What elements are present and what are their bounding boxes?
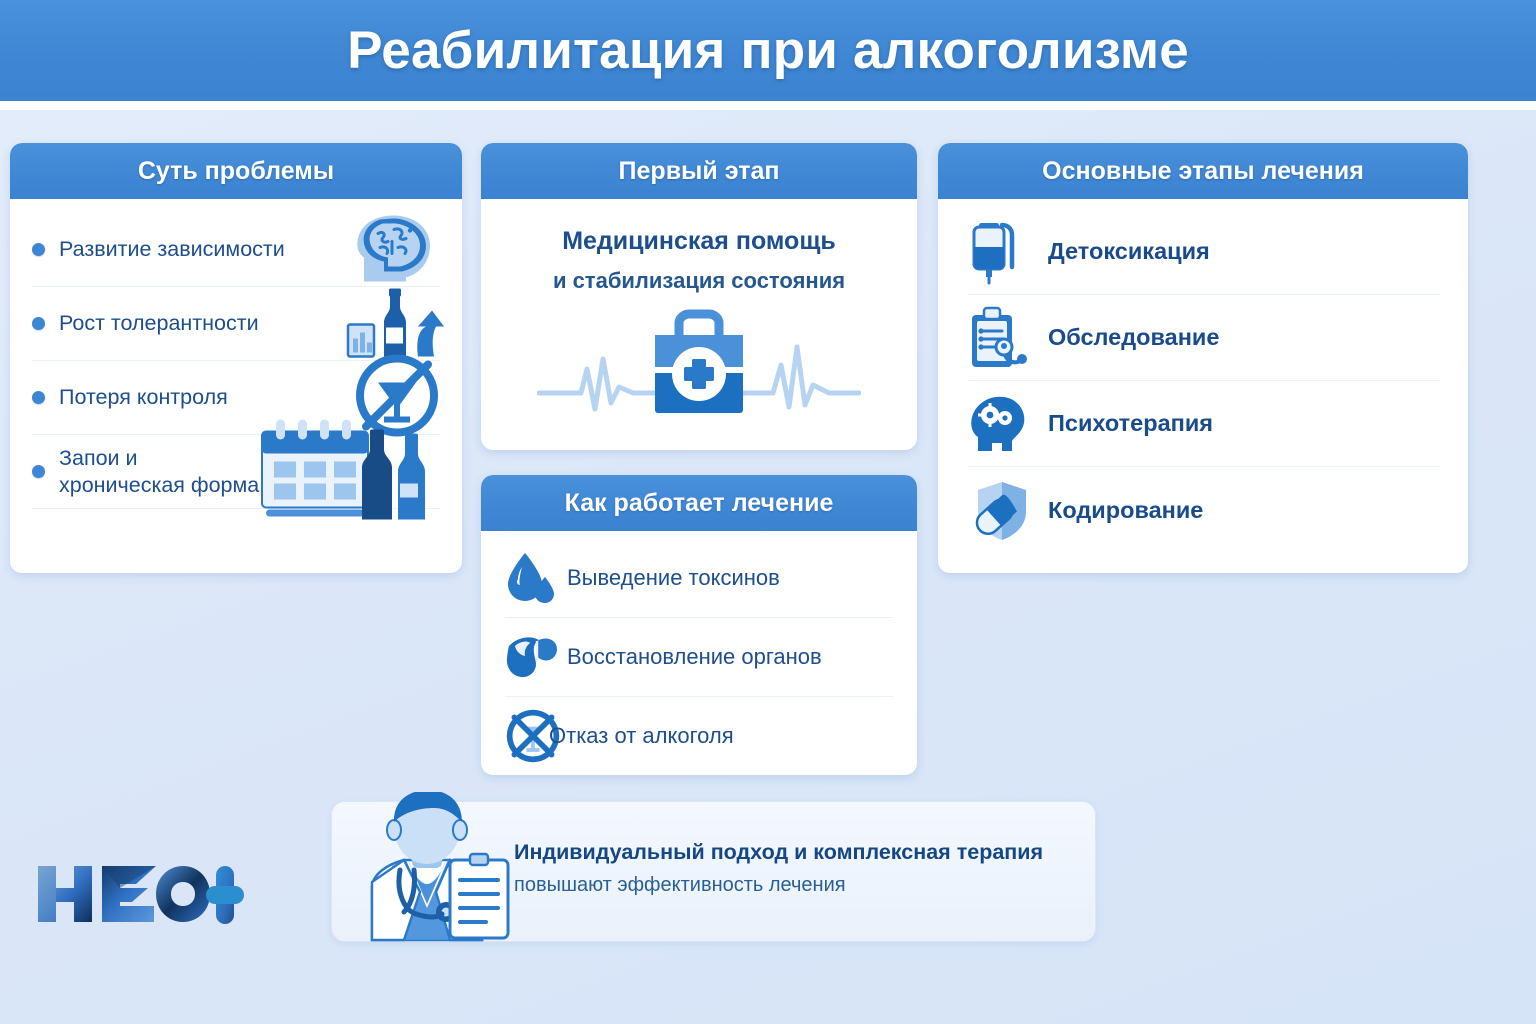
brand-logo[interactable]: [32, 852, 248, 939]
list-item[interactable]: Кодирование: [968, 467, 1440, 553]
head-gears-icon: [968, 393, 1038, 455]
card-how-works-title: Как работает лечение: [565, 489, 834, 518]
card-problem-body: Развитие зависимости: [10, 199, 462, 519]
card-first-stage-title: Первый этап: [619, 157, 780, 186]
list-item-label: Детоксикация: [1048, 238, 1210, 265]
card-how-works-header: Как работает лечение: [481, 475, 917, 531]
card-problem: Суть проблемы Развитие зависимости: [10, 143, 462, 573]
bottom-banner-line-2: повышают эффективность лечения: [514, 874, 1043, 897]
list-item[interactable]: Запои и хроническая форма: [32, 435, 440, 509]
list-item[interactable]: Развитие зависимости: [32, 213, 440, 287]
card-problem-header: Суть проблемы: [10, 143, 462, 199]
header-divider-strip: [0, 101, 1536, 110]
card-stages-body: Детоксикация Обследование: [938, 199, 1468, 561]
bottle-growth-arrow-icon: [346, 282, 446, 365]
list-item-label: Кодирование: [1048, 497, 1203, 524]
liver-icon: [505, 634, 561, 680]
iv-drip-bag-icon: [968, 219, 1038, 285]
list-item[interactable]: Обследование: [968, 295, 1440, 381]
no-alcohol-glass-icon: [354, 352, 440, 443]
card-first-stage-header: Первый этап: [481, 143, 917, 199]
page-header: Реабилитация при алкоголизме: [0, 0, 1536, 101]
first-stage-line-2: и стабилизация состояния: [553, 267, 845, 296]
water-drop-icon: [505, 551, 561, 605]
card-how-works: Как работает лечение Выведение токсинов: [481, 475, 917, 775]
first-stage-line-1: Медицинская помощь: [562, 225, 836, 258]
list-item-label: Восстановление органов: [567, 644, 822, 670]
card-stages-header: Основные этапы лечения: [938, 143, 1468, 199]
card-stages: Основные этапы лечения Детоксикация: [938, 143, 1468, 573]
list-item[interactable]: Детоксикация: [968, 209, 1440, 295]
clipboard-stethoscope-icon: [968, 305, 1038, 371]
list-item[interactable]: Рост толерантности: [32, 287, 440, 361]
bottom-banner-line-1: Индивидуальный подход и комплексная тера…: [514, 840, 1043, 865]
brand-logo-glyphs: [32, 852, 248, 934]
list-item-label: Отказ от алкоголя: [549, 723, 734, 749]
bottom-banner-texts: Индивидуальный подход и комплексная тера…: [514, 840, 1043, 897]
bottom-callout-banner: Индивидуальный подход и комплексная тера…: [331, 801, 1096, 942]
brain-head-icon: [350, 211, 446, 288]
bullet-dot-icon: [32, 317, 45, 330]
first-aid-kit-heartbeat-icon: [537, 307, 861, 430]
bullet-label: Рост толерантности: [59, 310, 259, 336]
page-title: Реабилитация при алкоголизме: [347, 20, 1189, 81]
list-item-label: Психотерапия: [1048, 410, 1213, 437]
bullet-label: Потеря контроля: [59, 384, 228, 410]
bullet-label: Запои и хроническая форма: [59, 445, 259, 497]
list-item[interactable]: Выведение токсинов: [505, 539, 893, 618]
list-item-label: Выведение токсинов: [567, 565, 780, 591]
doctor-clipboard-icon: [350, 792, 520, 947]
bullet-dot-icon: [32, 391, 45, 404]
card-how-works-body: Выведение токсинов Восстановление органо…: [481, 531, 917, 775]
bullet-label: Развитие зависимости: [59, 236, 285, 262]
card-first-stage-body: Медицинская помощь и стабилизация состоя…: [481, 199, 917, 440]
list-item[interactable]: Потеря контроля: [32, 361, 440, 435]
card-first-stage: Первый этап Медицинская помощь и стабили…: [481, 143, 917, 450]
pill-shield-icon: [968, 478, 1038, 542]
list-item[interactable]: Психотерапия: [968, 381, 1440, 467]
list-item[interactable]: Отказ от алкоголя: [505, 697, 893, 775]
list-item-label: Обследование: [1048, 324, 1219, 351]
bullet-dot-icon: [32, 243, 45, 256]
card-problem-title: Суть проблемы: [138, 157, 334, 186]
card-stages-title: Основные этапы лечения: [1042, 157, 1364, 186]
list-item[interactable]: Восстановление органов: [505, 618, 893, 697]
bullet-dot-icon: [32, 465, 45, 478]
